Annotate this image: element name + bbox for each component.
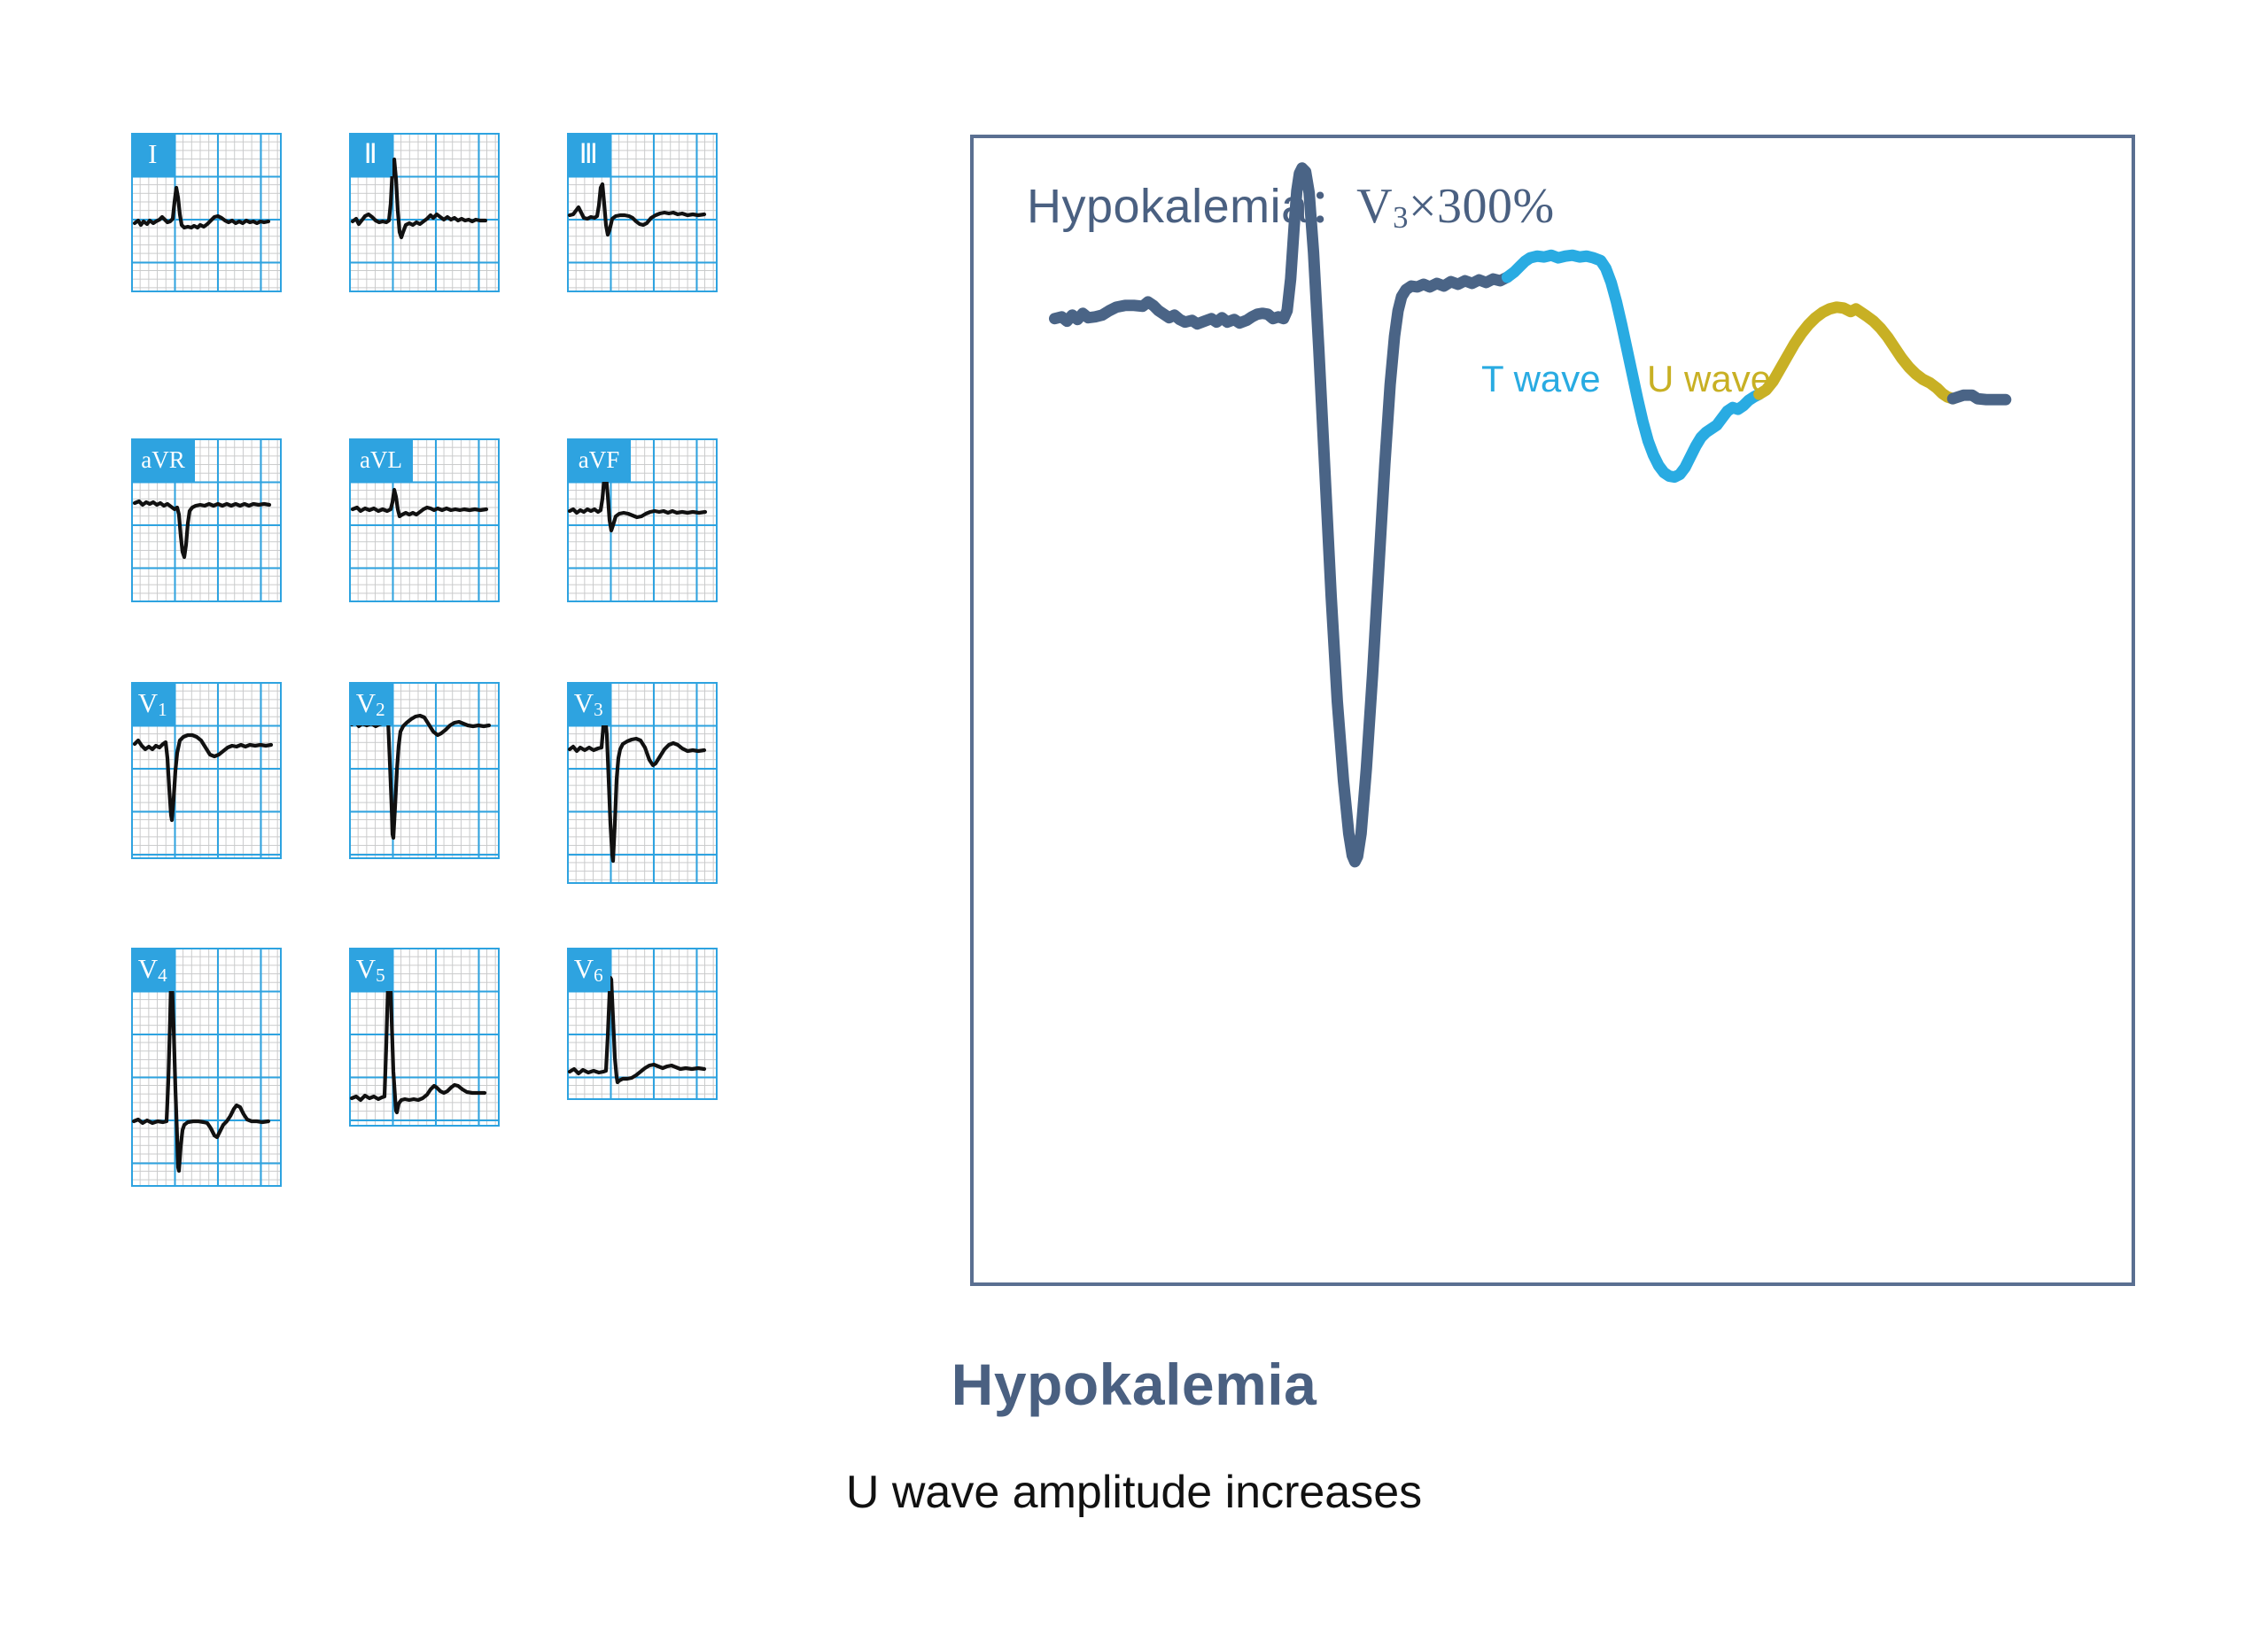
waveform-segment-t-wave xyxy=(1507,255,1759,476)
figure-caption-title: Hypokalemia xyxy=(0,1351,2268,1418)
lead-label-I: I xyxy=(131,133,175,176)
lead-label-V5: V5 xyxy=(349,948,392,991)
lead-label-aVL: aVL xyxy=(349,438,413,482)
lead-label-V2: V2 xyxy=(349,682,392,725)
lead-panel-aVL: aVL xyxy=(349,438,500,602)
lead-panel-V6: V6 xyxy=(567,948,718,1100)
lead-panel-I: I xyxy=(131,133,282,292)
lead-label-V6: V6 xyxy=(567,948,610,991)
waveform-segment-baseline-qrs xyxy=(1054,168,1507,862)
lead-label-V4: V4 xyxy=(131,948,175,991)
magnified-waveform xyxy=(974,138,2132,1282)
lead-label-aVF: aVF xyxy=(567,438,631,482)
lead-panel-V2: V2 xyxy=(349,682,500,859)
lead-panel-V3: V3 xyxy=(567,682,718,884)
lead-panel-aVF: aVF xyxy=(567,438,718,602)
lead-label-aVR: aVR xyxy=(131,438,195,482)
lead-panel-aVR: aVR xyxy=(131,438,282,602)
waveform-segment-u-wave xyxy=(1759,307,1953,399)
twelve-lead-ecg-grid: I Ⅱ Ⅲ aVR aVL aVF V1 xyxy=(131,133,946,1293)
lead-panel-III: Ⅲ xyxy=(567,133,718,292)
lead-panel-V4: V4 xyxy=(131,948,282,1187)
magnified-ecg-panel: Hypokalemia：V3×300% T wave U wave xyxy=(970,135,2135,1286)
lead-panel-II: Ⅱ xyxy=(349,133,500,292)
lead-label-II: Ⅱ xyxy=(349,133,392,176)
lead-label-V3: V3 xyxy=(567,682,610,725)
waveform-segment-terminal-baseline xyxy=(1953,395,2006,399)
lead-label-V1: V1 xyxy=(131,682,175,725)
figure-caption-subtitle: U wave amplitude increases xyxy=(0,1466,2268,1519)
lead-panel-V1: V1 xyxy=(131,682,282,859)
lead-label-III: Ⅲ xyxy=(567,133,610,176)
lead-panel-V5: V5 xyxy=(349,948,500,1127)
